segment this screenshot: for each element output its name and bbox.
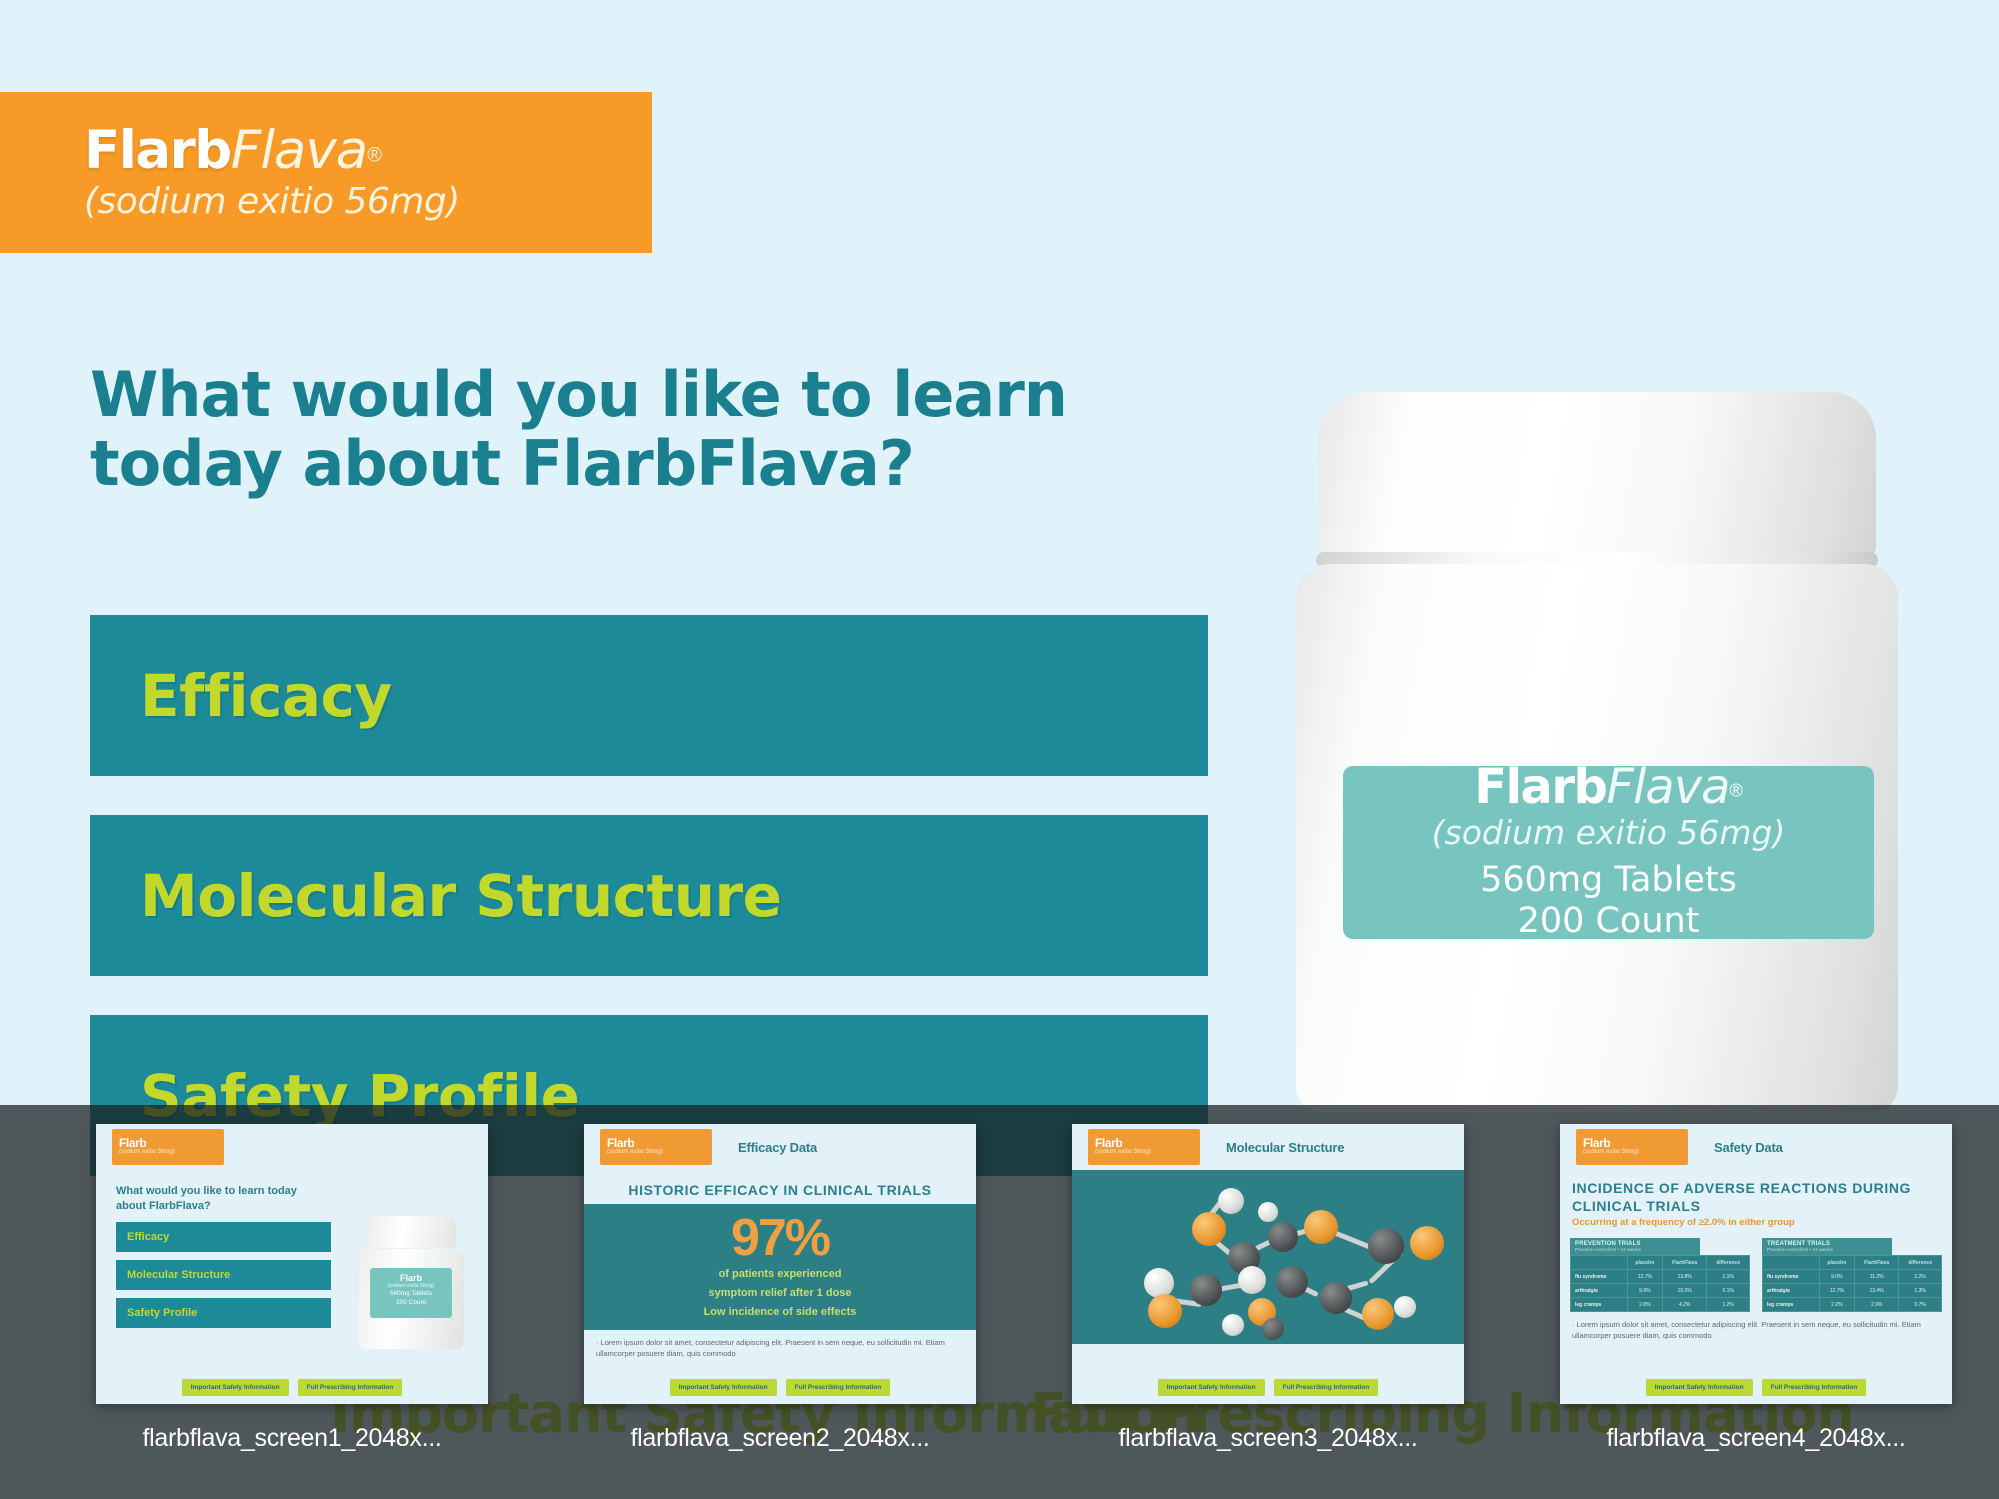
- registered-trademark-icon: ®: [1730, 780, 1743, 800]
- cell: 11.2%: [1855, 1270, 1899, 1284]
- thumb-stat-line-2: symptom relief after 1 dose: [592, 1286, 968, 1301]
- cell: 13.4%: [1855, 1284, 1899, 1298]
- thumbnail-screen4[interactable]: Flarb (sodium exitio 56mg) Safety Data I…: [1560, 1124, 1952, 1404]
- thumb-footer-buttons: Important Safety Information Full Prescr…: [584, 1379, 976, 1396]
- table-row: flu syndrome 9.0% 11.2% 2.2%: [1763, 1270, 1942, 1284]
- cell: leg cramps: [1571, 1298, 1628, 1312]
- cell: flu syndrome: [1763, 1270, 1820, 1284]
- brand-generic-name: (sodium exitio 56mg): [84, 181, 652, 222]
- thumb-footer-buttons: Important Safety Information Full Prescr…: [1072, 1379, 1464, 1396]
- adverse-reactions-tables: PREVENTION TRIALS Placebo-controlled • 1…: [1560, 1234, 1952, 1312]
- cell: 1.1%: [1707, 1270, 1750, 1284]
- bottle-count: 200 Count: [1518, 901, 1700, 942]
- thumb-bottle-strength: 560mg Tablets: [370, 1290, 452, 1299]
- thumb-brand-generic: (sodium exitio 56mg): [119, 1149, 224, 1157]
- thumb-header: Flarb (sodium exitio 56mg): [96, 1124, 488, 1170]
- thumb-body: INCIDENCE OF ADVERSE REACTIONS DURING CL…: [1560, 1170, 1952, 1404]
- menu-button-efficacy[interactable]: Efficacy: [90, 615, 1208, 776]
- thumb-brand-chip: Flarb (sodium exitio 56mg): [1576, 1129, 1688, 1165]
- thumb-body-copy: · Lorem ipsum dolor sit amet, consectetu…: [1560, 1312, 1952, 1342]
- brand-name-bold: Flarb: [84, 120, 231, 181]
- thumb-menu-label: Safety Profile: [127, 1307, 197, 1319]
- thumb-brand-generic: (sodium exitio 56mg): [607, 1149, 712, 1157]
- thumb-section-label: Safety Data: [1714, 1140, 1783, 1155]
- menu-button-label: Molecular Structure: [140, 862, 782, 930]
- col-header: placebo: [1819, 1256, 1854, 1270]
- brand-name-italic: Flava: [231, 120, 368, 181]
- cell: 10.0%: [1663, 1284, 1707, 1298]
- thumb-menu-label: Efficacy: [127, 1231, 169, 1243]
- data-table: placebo FlarbFlava difference flu syndro…: [1570, 1255, 1750, 1312]
- cell: 12.7%: [1627, 1270, 1662, 1284]
- cell: 2.2%: [1899, 1270, 1942, 1284]
- bottle-strength: 560mg Tablets: [1480, 860, 1737, 901]
- thumb-subtitle: Occurring at a frequency of ≥2.0% in eit…: [1560, 1217, 1952, 1234]
- thumb-bottle-brand: Flarb: [370, 1274, 452, 1283]
- thumb-header: Flarb (sodium exitio 56mg) Efficacy Data: [584, 1124, 976, 1170]
- col-header: [1571, 1256, 1628, 1270]
- cell: 0.1%: [1707, 1284, 1750, 1298]
- thumb-body-copy: · Lorem ipsum dolor sit amet, consectetu…: [584, 1330, 976, 1360]
- thumb-brand-generic: (sodium exitio 56mg): [1095, 1149, 1200, 1157]
- thumb-fpi-button: Full Prescribing Information: [786, 1379, 891, 1396]
- thumb-brand-chip: Flarb (sodium exitio 56mg): [1088, 1129, 1200, 1165]
- col-header: placebo: [1627, 1256, 1662, 1270]
- thumbnail-screen1[interactable]: Flarb (sodium exitio 56mg) What would yo…: [96, 1124, 488, 1404]
- thumb-brand-chip: Flarb (sodium exitio 56mg): [112, 1129, 224, 1165]
- thumb-body: HISTORIC EFFICACY IN CLINICAL TRIALS 97%…: [584, 1170, 976, 1404]
- prevention-trials-table: PREVENTION TRIALS Placebo-controlled • 1…: [1570, 1238, 1750, 1312]
- cell: 4.2%: [1663, 1298, 1707, 1312]
- thumb-isi-button: Important Safety Information: [1646, 1379, 1753, 1396]
- bottle-brand-bold: Flarb: [1474, 759, 1606, 815]
- thumb-header: Flarb (sodium exitio 56mg) Safety Data: [1560, 1124, 1952, 1170]
- brand-wordmark: FlarbFlava®: [84, 124, 652, 177]
- thumb-brand-name: Flarb: [607, 1137, 712, 1149]
- thumb-section-label: Efficacy Data: [738, 1140, 817, 1155]
- table-row: arthralgia 12.7% 13.4% 1.3%: [1763, 1284, 1942, 1298]
- brand-logo-block: FlarbFlava® (sodium exitio 56mg): [0, 92, 652, 253]
- thumb-fpi-button: Full Prescribing Information: [1274, 1379, 1379, 1396]
- thumb-menu-efficacy: Efficacy: [116, 1222, 331, 1252]
- menu-button-label: Efficacy: [140, 662, 392, 730]
- cell: 0.7%: [1899, 1298, 1942, 1312]
- cell: 2.8%: [1627, 1298, 1662, 1312]
- cell: 1.2%: [1707, 1298, 1750, 1312]
- bottle-label-wordmark: FlarbFlava®: [1474, 763, 1743, 811]
- thumb-menu-safety: Safety Profile: [116, 1298, 331, 1328]
- thumb-brand-generic: (sodium exitio 56mg): [1583, 1149, 1688, 1157]
- table-row: leg cramps 2.8% 4.2% 1.2%: [1571, 1298, 1750, 1312]
- bottle-label: FlarbFlava® (sodium exitio 56mg) 560mg T…: [1343, 766, 1874, 939]
- product-bottle-image: [1290, 392, 1900, 1112]
- col-header: FlarbFlava: [1663, 1256, 1707, 1270]
- page-title: What would you like to learn today about…: [90, 360, 1270, 499]
- thumbnail-filename-3: flarbflava_screen3_2048x...: [1072, 1424, 1464, 1453]
- thumb-title: HISTORIC EFFICACY IN CLINICAL TRIALS: [584, 1170, 976, 1204]
- cell: 13.8%: [1663, 1270, 1707, 1284]
- thumb-brand-chip: Flarb (sodium exitio 56mg): [600, 1129, 712, 1165]
- cell: arthralgia: [1571, 1284, 1628, 1298]
- data-table: placebo FlarbFlava difference flu syndro…: [1762, 1255, 1942, 1312]
- table-row: leg cramps 2.2% 2.9% 0.7%: [1763, 1298, 1942, 1312]
- cell: leg cramps: [1763, 1298, 1820, 1312]
- thumb-stat-panel: 97% of patients experienced symptom reli…: [584, 1204, 976, 1330]
- thumb-title: INCIDENCE OF ADVERSE REACTIONS DURING CL…: [1560, 1170, 1952, 1217]
- thumb-bottle-label: Flarb (sodium exitio 56mg) 560mg Tablets…: [370, 1268, 452, 1318]
- cell: 2.9%: [1855, 1298, 1899, 1312]
- cell: 9.0%: [1819, 1270, 1854, 1284]
- thumb-section-label: Molecular Structure: [1226, 1140, 1344, 1155]
- thumb-bottle-count: 200 Count: [370, 1299, 452, 1308]
- thumb-question: What would you like to learn today about…: [96, 1170, 311, 1214]
- thumb-stat-line-3: Low incidence of side effects: [592, 1305, 968, 1320]
- cell: 1.3%: [1899, 1284, 1942, 1298]
- thumb-footer-buttons: Important Safety Information Full Prescr…: [1560, 1379, 1952, 1396]
- thumb-isi-button: Important Safety Information: [1158, 1379, 1265, 1396]
- thumbnail-screen3[interactable]: Flarb (sodium exitio 56mg) Molecular Str…: [1072, 1124, 1464, 1404]
- thumb-brand-name: Flarb: [119, 1137, 224, 1149]
- thumbnail-filename-1: flarbflava_screen1_2048x...: [96, 1424, 488, 1453]
- table-row: flu syndrome 12.7% 13.8% 1.1%: [1571, 1270, 1750, 1284]
- thumb-bottle-image: Flarb (sodium exitio 56mg) 560mg Tablets…: [356, 1216, 466, 1351]
- cell: 12.7%: [1819, 1284, 1854, 1298]
- cell: 2.2%: [1819, 1298, 1854, 1312]
- thumb-isi-button: Important Safety Information: [182, 1379, 289, 1396]
- thumb-body: Important Safety Information Full Prescr…: [1072, 1170, 1464, 1404]
- registered-trademark-icon: ®: [367, 144, 382, 166]
- thumbnail-filename-4: flarbflava_screen4_2048x...: [1560, 1424, 1952, 1453]
- thumb-menu-molecular: Molecular Structure: [116, 1260, 331, 1290]
- thumb-fpi-button: Full Prescribing Information: [298, 1379, 403, 1396]
- thumb-stat-line-1: of patients experienced: [592, 1267, 968, 1282]
- table-caption-sub: Placebo-controlled • 12 weeks: [1575, 1247, 1695, 1252]
- thumbnail-screen2[interactable]: Flarb (sodium exitio 56mg) Efficacy Data…: [584, 1124, 976, 1404]
- col-header: difference: [1707, 1256, 1750, 1270]
- bottle-generic-name: (sodium exitio 56mg): [1432, 813, 1786, 852]
- thumb-stat-value: 97%: [592, 1214, 968, 1263]
- col-header: [1763, 1256, 1820, 1270]
- thumb-body: What would you like to learn today about…: [96, 1170, 488, 1404]
- cell: flu syndrome: [1571, 1270, 1628, 1284]
- menu-button-molecular-structure[interactable]: Molecular Structure: [90, 815, 1208, 976]
- table-row: arthralgia 9.9% 10.0% 0.1%: [1571, 1284, 1750, 1298]
- thumb-bottle-cap: [366, 1216, 456, 1248]
- table-caption-sub: Placebo-controlled • 24 weeks: [1767, 1247, 1887, 1252]
- cell: arthralgia: [1763, 1284, 1820, 1298]
- thumb-fpi-button: Full Prescribing Information: [1762, 1379, 1867, 1396]
- treatment-trials-table: TREATMENT TRIALS Placebo-controlled • 24…: [1762, 1238, 1942, 1312]
- thumb-brand-name: Flarb: [1583, 1137, 1688, 1149]
- thumb-brand-name: Flarb: [1095, 1137, 1200, 1149]
- col-header: FlarbFlava: [1855, 1256, 1899, 1270]
- thumb-bottle-generic: (sodium exitio 56mg): [370, 1283, 452, 1290]
- table-caption: PREVENTION TRIALS Placebo-controlled • 1…: [1570, 1238, 1700, 1255]
- table-caption: TREATMENT TRIALS Placebo-controlled • 24…: [1762, 1238, 1892, 1255]
- cell: 9.9%: [1627, 1284, 1662, 1298]
- thumb-footer-buttons: Important Safety Information Full Prescr…: [96, 1379, 488, 1396]
- bottle-brand-italic: Flava: [1606, 759, 1729, 815]
- col-header: difference: [1899, 1256, 1942, 1270]
- molecule-diagram-icon: [1072, 1170, 1464, 1344]
- thumbnail-filename-2: flarbflava_screen2_2048x...: [584, 1424, 976, 1453]
- thumb-header: Flarb (sodium exitio 56mg) Molecular Str…: [1072, 1124, 1464, 1170]
- thumb-isi-button: Important Safety Information: [670, 1379, 777, 1396]
- bottle-cap: [1318, 392, 1876, 560]
- thumb-menu-label: Molecular Structure: [127, 1269, 230, 1281]
